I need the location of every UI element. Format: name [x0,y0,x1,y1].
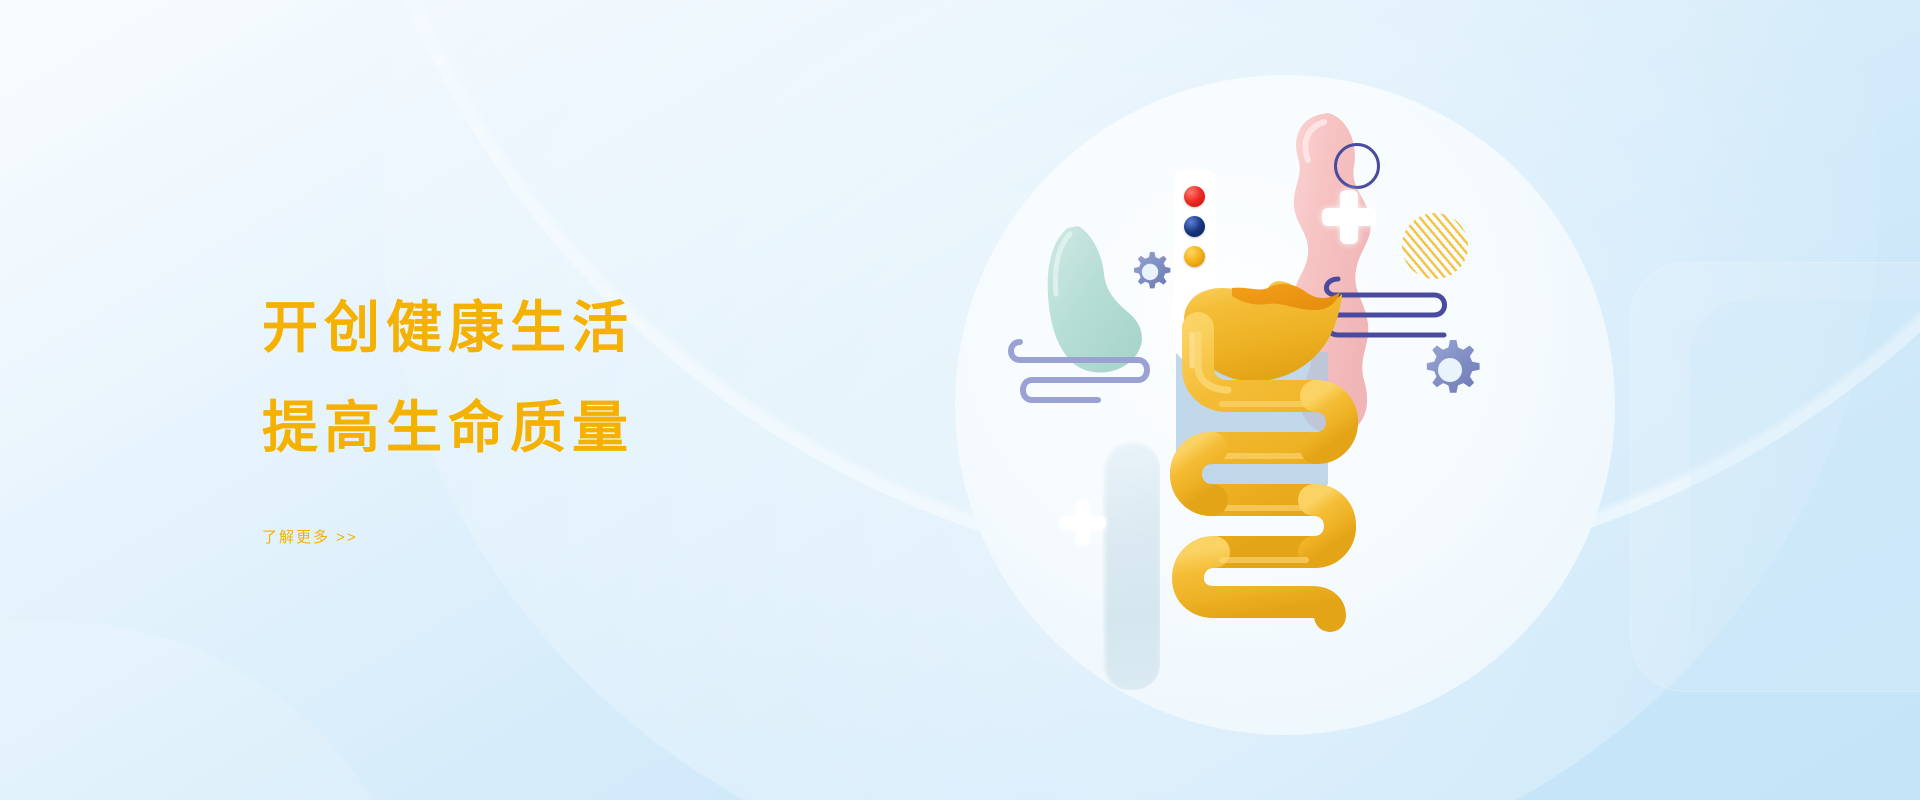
hero-banner: 开创健康生活 提高生命质量 了解更多 >> [0,0,1920,800]
learn-more-link[interactable]: 了解更多 >> [262,526,358,547]
headline-block: 开创健康生活 提高生命质量 了解更多 >> [262,300,822,547]
background-rounded-rect-b [1690,300,1920,730]
headline-line-1: 开创健康生活 [262,300,822,356]
digestive-system-illustration [1080,110,1600,730]
gear-small-icon [1128,250,1172,294]
stomach-and-intestine-shape [1080,110,1600,730]
headline-line-2: 提高生命质量 [262,400,822,456]
background-circle-bottom-left [0,620,430,800]
gear-large-icon [1418,338,1482,402]
